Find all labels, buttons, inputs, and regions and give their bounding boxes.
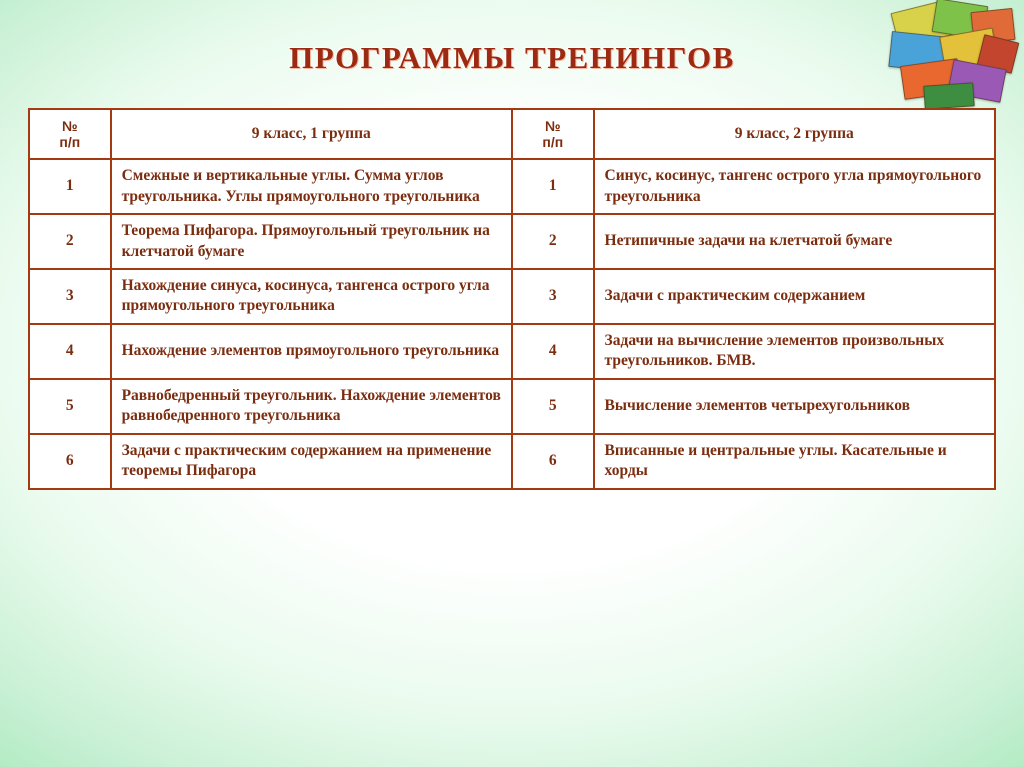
row-topic-right: Задачи на вычисление элементов произволь… (594, 324, 995, 379)
header-num-right-line1: № (519, 118, 587, 134)
row-topic-right: Нетипичные задачи на клетчатой бумаге (594, 214, 995, 269)
header-group-1: 9 класс, 1 группа (111, 109, 512, 159)
row-num-left: 4 (29, 324, 111, 379)
table-row: 6 Задачи с практическим содержанием на п… (29, 434, 995, 489)
row-topic-left: Равнобедренный треугольник. Нахождение э… (111, 379, 512, 434)
row-num-left: 2 (29, 214, 111, 269)
table-header: № п/п 9 класс, 1 группа № п/п 9 класс, 2… (29, 109, 995, 159)
table-row: 1 Смежные и вертикальные углы. Сумма угл… (29, 159, 995, 214)
row-topic-right: Задачи с практическим содержанием (594, 269, 995, 324)
row-topic-right: Вычисление элементов четырехугольников (594, 379, 995, 434)
row-num-right: 6 (512, 434, 594, 489)
header-num-left-line2: п/п (36, 134, 104, 150)
table-header-row: № п/п 9 класс, 1 группа № п/п 9 класс, 2… (29, 109, 995, 159)
row-topic-left: Теорема Пифагора. Прямоугольный треуголь… (111, 214, 512, 269)
header-num-left: № п/п (29, 109, 111, 159)
row-num-right: 1 (512, 159, 594, 214)
header-num-left-line1: № (36, 118, 104, 134)
row-topic-left: Нахождение синуса, косинуса, тангенса ос… (111, 269, 512, 324)
row-topic-left: Нахождение элементов прямоугольного треу… (111, 324, 512, 379)
header-num-right: № п/п (512, 109, 594, 159)
row-num-left: 3 (29, 269, 111, 324)
row-topic-left: Смежные и вертикальные углы. Сумма углов… (111, 159, 512, 214)
row-num-left: 1 (29, 159, 111, 214)
row-topic-right: Вписанные и центральные углы. Касательны… (594, 434, 995, 489)
row-num-right: 4 (512, 324, 594, 379)
row-num-left: 6 (29, 434, 111, 489)
table-row: 3 Нахождение синуса, косинуса, тангенса … (29, 269, 995, 324)
row-num-right: 3 (512, 269, 594, 324)
row-num-left: 5 (29, 379, 111, 434)
table-row: 4 Нахождение элементов прямоугольного тр… (29, 324, 995, 379)
table-body: 1 Смежные и вертикальные углы. Сумма угл… (29, 159, 995, 488)
header-group-2: 9 класс, 2 группа (594, 109, 995, 159)
header-num-right-line2: п/п (519, 134, 587, 150)
table-row: 5 Равнобедренный треугольник. Нахождение… (29, 379, 995, 434)
row-topic-right: Синус, косинус, тангенс острого угла пря… (594, 159, 995, 214)
row-num-right: 2 (512, 214, 594, 269)
slide-canvas: ПРОГРАММЫ ТРЕНИНГОВ № п/п 9 класс, 1 гру… (0, 0, 1024, 767)
page-title: ПРОГРАММЫ ТРЕНИНГОВ (0, 40, 1024, 76)
row-topic-left: Задачи с практическим содержанием на при… (111, 434, 512, 489)
row-num-right: 5 (512, 379, 594, 434)
table-row: 2 Теорема Пифагора. Прямоугольный треуго… (29, 214, 995, 269)
training-programs-table: № п/п 9 класс, 1 группа № п/п 9 класс, 2… (28, 108, 996, 490)
